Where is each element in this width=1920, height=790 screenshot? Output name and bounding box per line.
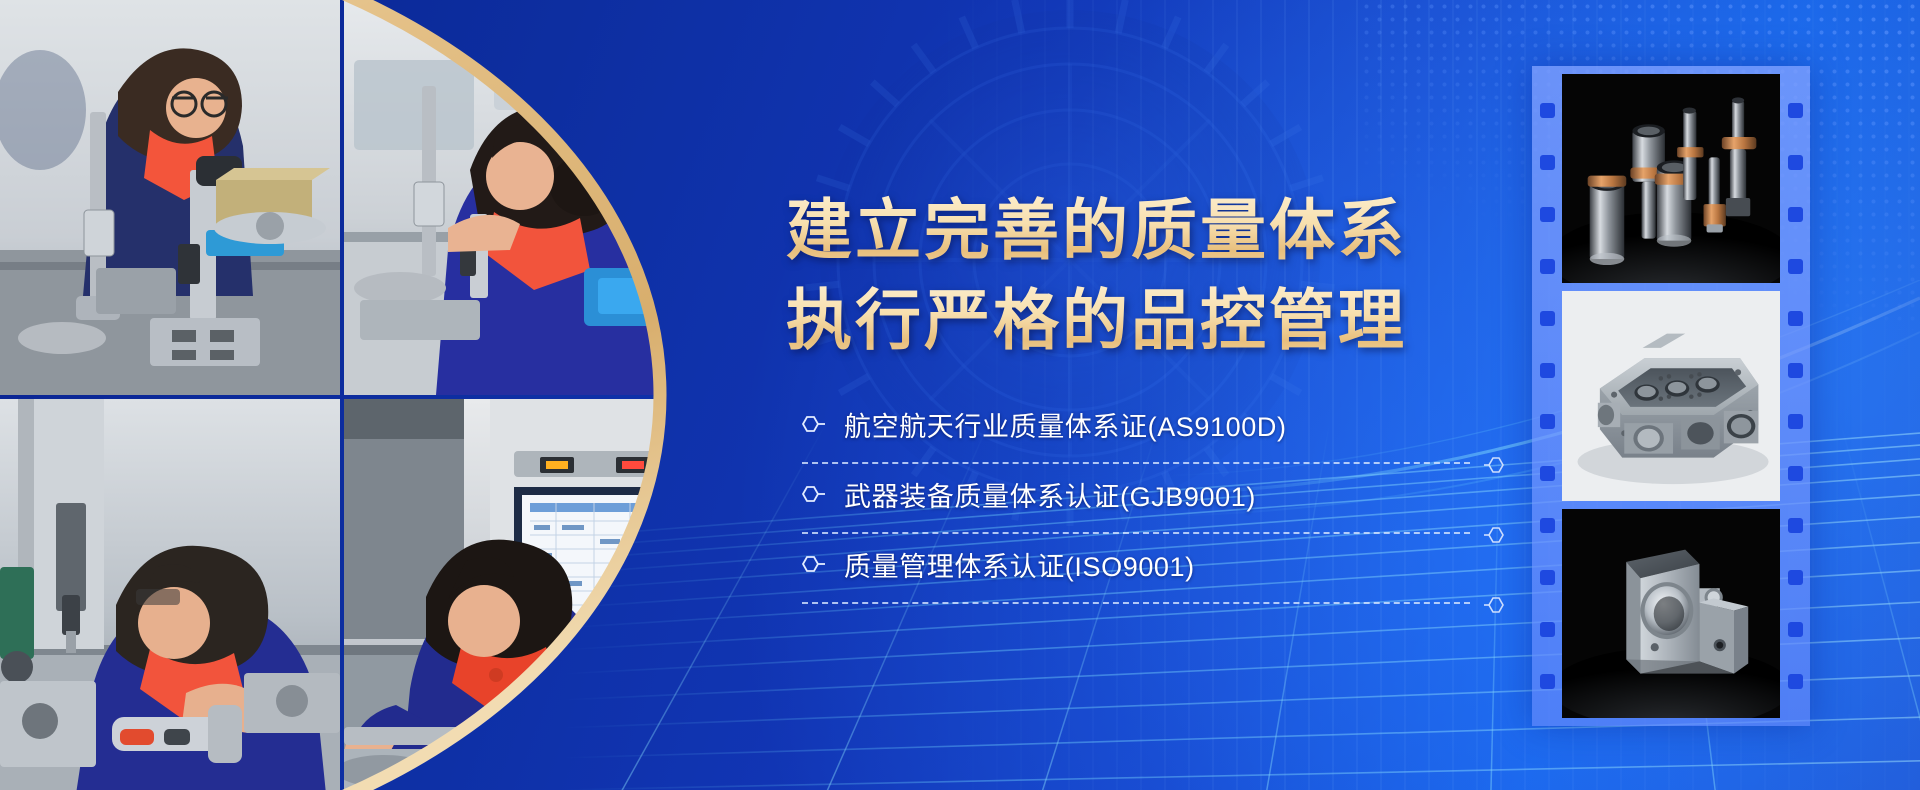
certification-item-as9100d[interactable]: 航空航天行业质量体系证(AS9100D) <box>800 400 1450 470</box>
perforation <box>1788 570 1803 585</box>
certification-divider <box>802 532 1470 534</box>
perforation <box>1788 414 1803 429</box>
perforation <box>1540 570 1555 585</box>
perforation <box>1540 259 1555 274</box>
perforation <box>1540 311 1555 326</box>
headline: 建立完善的质量体系 执行严格的品控管理 <box>786 186 1486 366</box>
certification-item-iso9001[interactable]: 质量管理体系认证(ISO9001) <box>800 540 1450 610</box>
perforation <box>1788 103 1803 118</box>
perforation <box>1788 466 1803 481</box>
headline-line-1: 建立完善的质量体系 <box>786 186 1486 276</box>
photo-operator-at-cnc-control-panel <box>344 399 690 790</box>
certification-list: 航空航天行业质量体系证(AS9100D) 武器装备质量体系认证(GJB9001) <box>800 400 1450 610</box>
hexagon-endcap-icon <box>1484 596 1506 614</box>
headline-line-2: 执行严格的品控管理 <box>786 276 1486 366</box>
perforation <box>1788 155 1803 170</box>
certification-label: 航空航天行业质量体系证(AS9100D) <box>844 405 1287 444</box>
hexagon-bullet-icon <box>800 554 826 574</box>
perforation <box>1540 674 1555 689</box>
perforation <box>1788 518 1803 533</box>
perforation <box>1540 414 1555 429</box>
certification-item-gjb9001[interactable]: 武器装备质量体系认证(GJB9001) <box>800 470 1450 540</box>
photo-collage <box>0 0 690 790</box>
filmstrip-perforations-left <box>1532 66 1562 726</box>
perforation <box>1540 363 1555 378</box>
perforation <box>1788 622 1803 637</box>
perforation <box>1540 466 1555 481</box>
photo-female-technician-at-workbench <box>344 0 690 395</box>
perforation <box>1540 622 1555 637</box>
certification-divider <box>802 462 1470 464</box>
perforation <box>1788 311 1803 326</box>
hexagon-endcap-icon <box>1484 526 1506 544</box>
product-filmstrip <box>1532 66 1810 726</box>
hexagon-endcap-icon <box>1484 456 1506 474</box>
product-photo-machined-bearing-block <box>1562 509 1780 718</box>
photo-inspector-measuring-height-gauge <box>0 0 340 395</box>
photo-engineer-using-cmm-machine <box>0 399 340 790</box>
certification-label: 武器装备质量体系认证(GJB9001) <box>844 475 1256 514</box>
product-photo-machined-aluminium-housing <box>1562 291 1780 500</box>
perforation <box>1788 363 1803 378</box>
perforation <box>1540 518 1555 533</box>
perforation <box>1788 674 1803 689</box>
certification-divider <box>802 602 1470 604</box>
certification-label: 质量管理体系认证(ISO9001) <box>844 545 1195 584</box>
perforation <box>1540 103 1555 118</box>
perforation <box>1540 155 1555 170</box>
hexagon-bullet-icon <box>800 414 826 434</box>
perforation <box>1540 207 1555 222</box>
product-photo-precision-turned-shafts-and-bushings <box>1562 74 1780 283</box>
hexagon-bullet-icon <box>800 484 826 504</box>
filmstrip-perforations-right <box>1780 66 1810 726</box>
perforation <box>1788 259 1803 274</box>
perforation <box>1788 207 1803 222</box>
quality-system-banner: 建立完善的质量体系 执行严格的品控管理 航空航天行业质量体系证(AS9100D) <box>0 0 1920 790</box>
